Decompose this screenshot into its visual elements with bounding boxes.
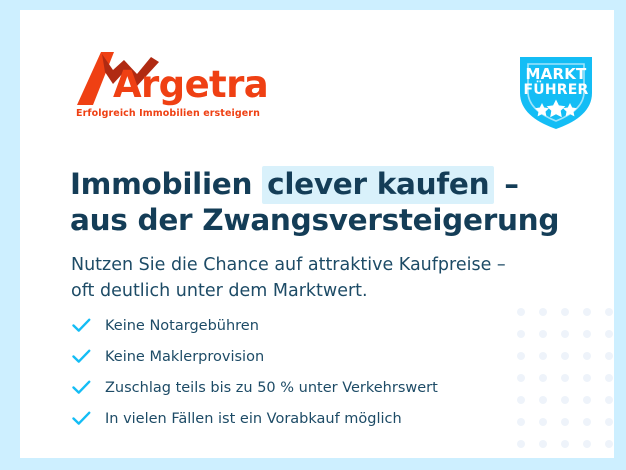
market-leader-badge: MARKT FÜHRER [510,43,602,135]
subheadline-line-2: oft deutlich unter dem Marktwert. [71,278,591,305]
decorative-dot [561,330,569,338]
decorative-dot [583,330,591,338]
decorative-dot [605,374,613,382]
list-item-label: Zuschlag teils bis zu 50 % unter Verkehr… [105,380,438,396]
badge-line-1: MARKT [526,65,587,83]
decorative-dot [517,440,525,448]
decorative-dot [561,374,569,382]
check-icon [72,349,94,364]
benefits-list: Keine NotargebührenKeine Maklerprovision… [72,310,542,434]
decorative-dot [605,440,613,448]
logo-wordmark: Argetra [113,66,268,103]
list-item: In vielen Fällen ist ein Vorabkauf mögli… [72,403,542,434]
decorative-dot [605,396,613,404]
decorative-dot [605,308,613,316]
decorative-dot [561,396,569,404]
page-subheadline: Nutzen Sie die Chance auf attraktive Kau… [71,252,591,305]
decorative-dot [605,352,613,360]
decorative-dot [583,374,591,382]
decorative-dot [561,352,569,360]
decorative-dot [583,352,591,360]
logo-tagline: Erfolgreich Immobilien ersteigern [76,108,260,119]
argetra-logo[interactable]: Argetra Erfolgreich Immobilien ersteiger… [75,52,275,120]
decorative-dot [605,418,613,426]
badge-label: MARKT FÜHRER [510,67,602,97]
headline-line-2: aus der Zwangsversteigerung [70,202,600,239]
list-item: Zuschlag teils bis zu 50 % unter Verkehr… [72,372,542,403]
decorative-dot [561,418,569,426]
decorative-dot [539,440,547,448]
decorative-dot [605,330,613,338]
outer-frame: Argetra Erfolgreich Immobilien ersteiger… [0,0,626,470]
page-headline: Immobilien clever kaufen – aus der Zwang… [70,166,600,239]
headline-post: – [494,167,518,201]
headline-pre: Immobilien [70,167,262,201]
check-icon [72,411,94,426]
decorative-dot [583,308,591,316]
headline-highlight: clever kaufen [262,166,494,204]
list-item-label: Keine Notargebühren [105,318,259,334]
list-item: Keine Maklerprovision [72,341,542,372]
check-icon [72,318,94,333]
check-icon [72,380,94,395]
decorative-dot [561,440,569,448]
decorative-dot [583,418,591,426]
decorative-dot [583,396,591,404]
list-item: Keine Notargebühren [72,310,542,341]
badge-line-2: FÜHRER [510,83,602,98]
decorative-dot [583,440,591,448]
subheadline-line-1: Nutzen Sie die Chance auf attraktive Kau… [71,252,591,279]
headline-line-1: Immobilien clever kaufen – [70,166,600,203]
promo-card: Argetra Erfolgreich Immobilien ersteiger… [20,10,614,458]
decorative-dot [561,308,569,316]
list-item-label: Keine Maklerprovision [105,349,264,365]
list-item-label: In vielen Fällen ist ein Vorabkauf mögli… [105,411,402,427]
